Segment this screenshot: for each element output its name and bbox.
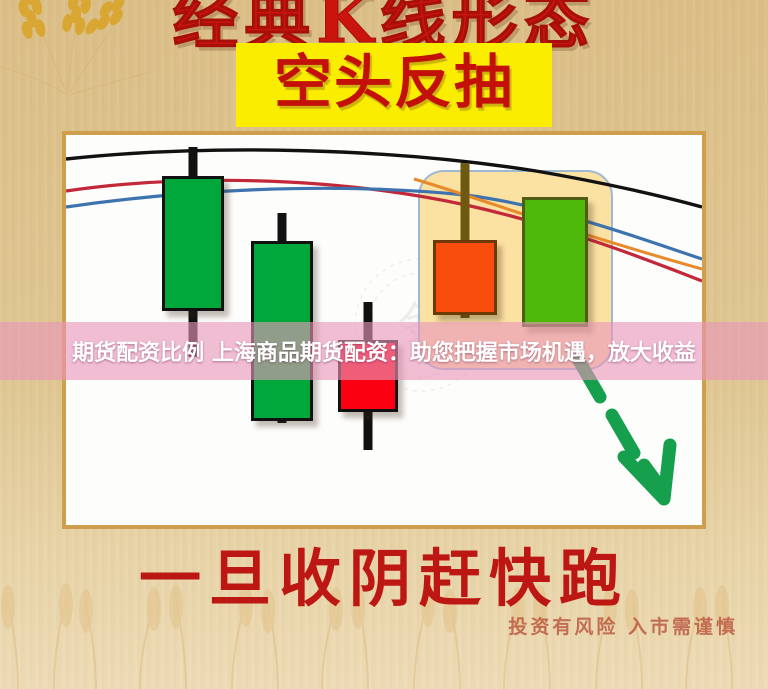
ad-banner[interactable]: 期货配资比例 上海商品期货配资：助您把握市场机遇，放大收益 bbox=[0, 322, 768, 380]
table-row bbox=[251, 135, 313, 435]
candle-4-body bbox=[433, 240, 497, 315]
table-row bbox=[338, 135, 398, 465]
poster-canvas: 经典K线形态 空头反抽 金 bbox=[0, 0, 768, 689]
poster-subtitle: 空头反抽 bbox=[236, 40, 552, 124]
candle-1-body bbox=[162, 176, 224, 311]
ad-banner-text: 期货配资比例 上海商品期货配资：助您把握市场机遇，放大收益 bbox=[72, 335, 696, 367]
candle-5-body bbox=[522, 197, 588, 327]
risk-disclaimer: 投资有风险 入市需谨慎 bbox=[508, 612, 738, 639]
poster-slogan: 一旦收阴赶快跑 bbox=[0, 528, 768, 618]
